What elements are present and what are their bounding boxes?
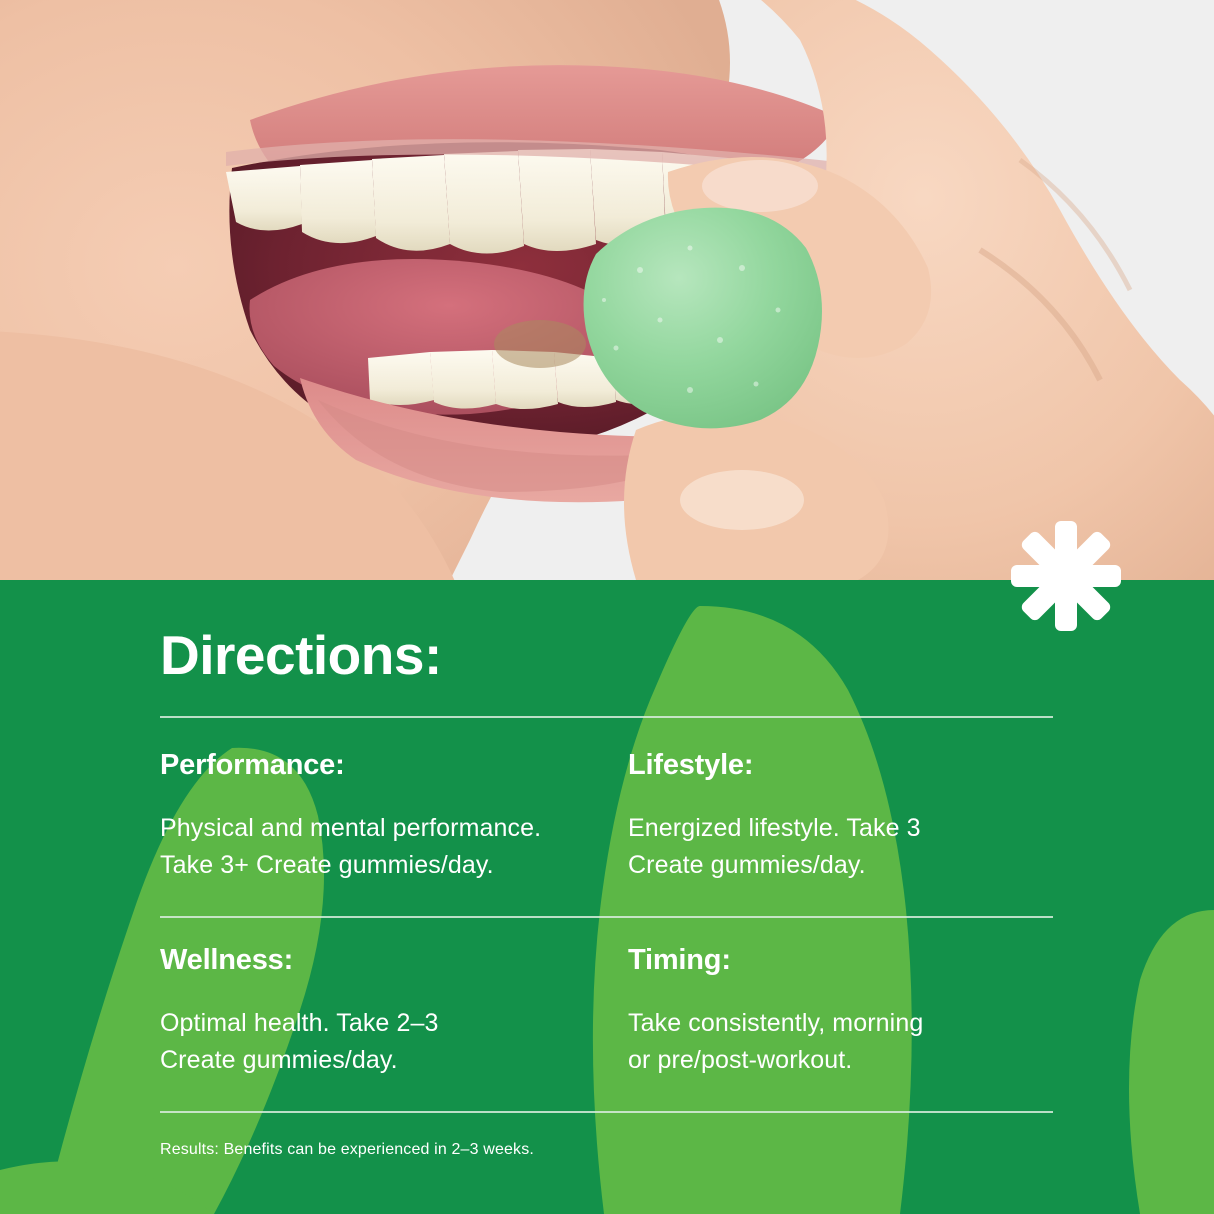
directions-panel: Directions: Performance: Physical and me… [0, 580, 1214, 1214]
divider-bottom [160, 1111, 1053, 1113]
direction-title: Performance: [160, 750, 600, 782]
direction-title: Wellness: [160, 945, 600, 977]
hero-photo [0, 0, 1214, 580]
direction-title: Timing: [628, 945, 1048, 977]
fingernail [702, 160, 818, 212]
hero-photo-illustration [0, 0, 1214, 580]
direction-body: Physical and mental performance. Take 3+… [160, 810, 600, 884]
divider-top [160, 716, 1053, 718]
directions-card: Directions: Performance: Physical and me… [0, 0, 1214, 1214]
direction-body: Energized lifestyle. Take 3 Create gummi… [628, 810, 1048, 884]
results-footnote: Results: Benefits can be experienced in … [160, 1140, 534, 1161]
thumbnail [680, 470, 804, 530]
divider-middle [160, 916, 1053, 918]
direction-item-performance: Performance: Physical and mental perform… [160, 750, 600, 884]
page-title: Directions: [160, 628, 442, 683]
direction-title: Lifestyle: [628, 750, 1048, 782]
direction-item-timing: Timing: Take consistently, morning or pr… [628, 945, 1048, 1079]
direction-item-wellness: Wellness: Optimal health. Take 2–3 Creat… [160, 945, 600, 1079]
direction-body: Optimal health. Take 2–3 Create gummies/… [160, 1005, 600, 1079]
direction-item-lifestyle: Lifestyle: Energized lifestyle. Take 3 C… [628, 750, 1048, 884]
direction-body: Take consistently, morning or pre/post-w… [628, 1005, 1048, 1079]
